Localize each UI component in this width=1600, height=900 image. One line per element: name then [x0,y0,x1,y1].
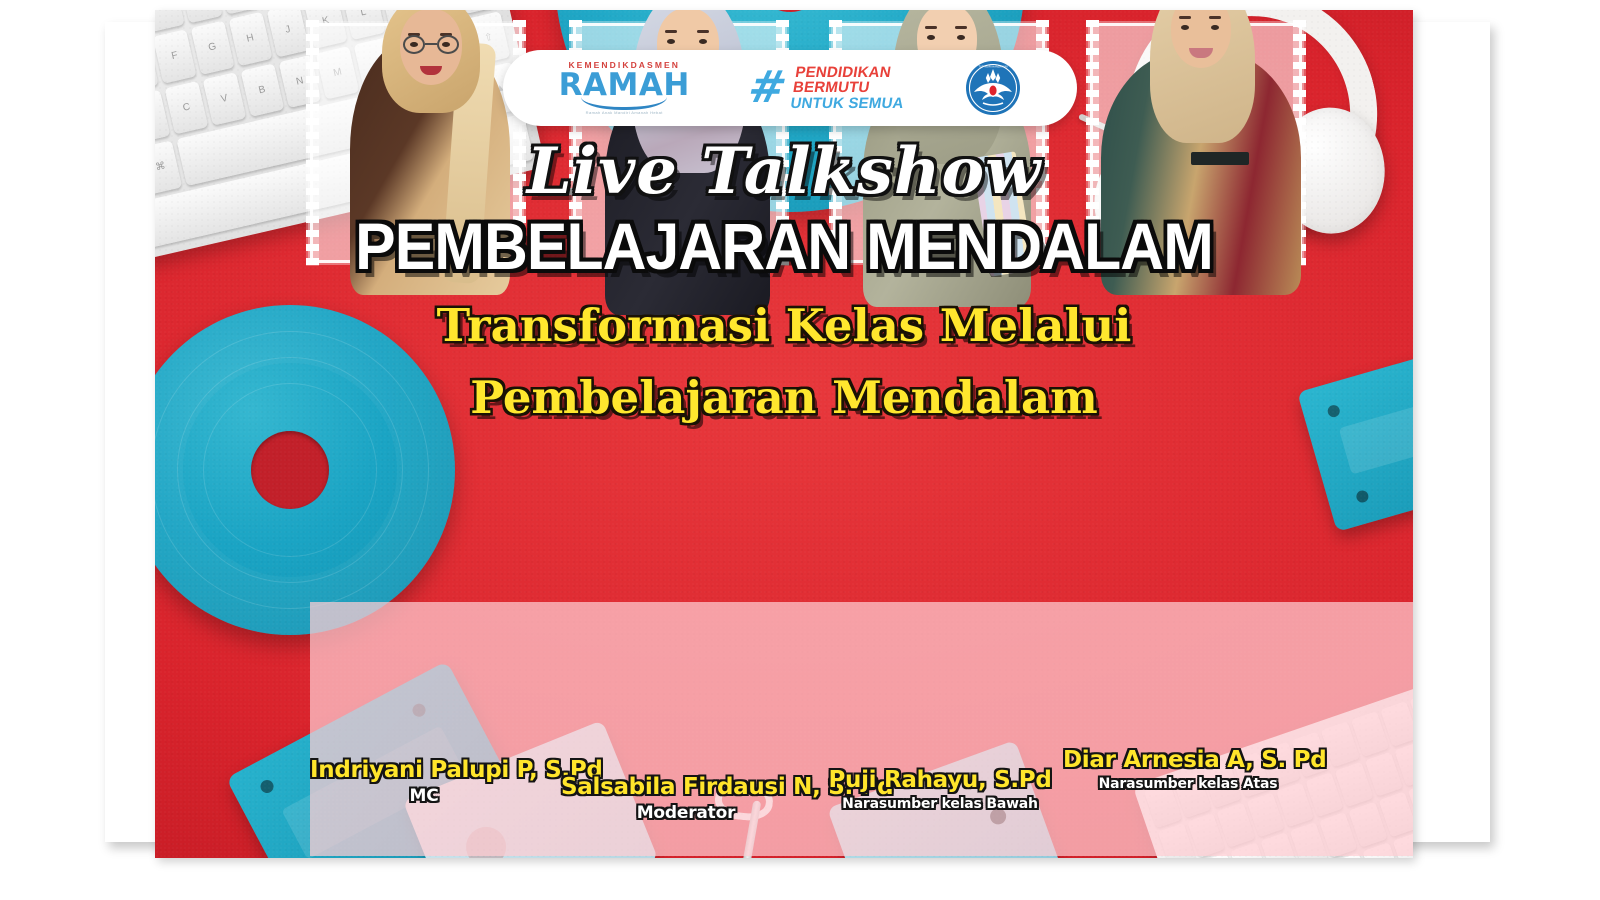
subtitle-line-2: Pembelajaran Mendalam [155,369,1413,427]
presenter-1-label: Indriyani Palupi P, S.Pd MC [310,758,538,806]
presenter-3-role: Narasumber kelas Bawah [825,796,1055,812]
presenter-4-label: Diar Arnesia A, S. Pd Narasumber kelas A… [1063,748,1313,792]
presenter-1-role: MC [310,786,538,806]
svg-text:TUT WURI HANDAYANI: TUT WURI HANDAYANI [979,65,1008,69]
poster-canvas: ~123 4567 890- QWER TYUI OP[] ASDF GHJK … [155,10,1413,858]
presenter-1-name: Indriyani Palupi P, S.Pd [310,758,538,783]
presenter-3-label: Puji Rahayu, S.Pd Narasumber kelas Bawah [825,768,1055,812]
tut-wuri-handayani-logo: TUT WURI HANDAYANI [965,60,1021,116]
eyebrow-live-talkshow: Live Talkshow [155,140,1413,204]
poster-page: ~123 4567 890- QWER TYUI OP[] ASDF GHJK … [0,0,1600,900]
ramah-logo-tagline: Ramah Anak Mandiri Amanah Hebat [586,111,663,115]
hashtag-icon: # [745,70,789,105]
pendidikan-bermutu-lines: PENDIDIKAN BERMUTU UNTUK SEMUA [789,65,909,111]
header-logo-bar: KEMENDIKDASMEN RAMAH Ramah Anak Mandiri … [503,50,1077,126]
ramah-logo-swoosh-icon [581,97,667,110]
presenter-2-role: Moderator [561,803,811,823]
title-block: Live Talkshow PEMBELAJARAN MENDALAM Tran… [155,140,1413,426]
pendidikan-bermutu-line1: PENDIDIKAN [794,65,909,80]
pendidikan-bermutu-logo: # PENDIDIKAN BERMUTU UNTUK SEMUA [749,65,906,111]
presenter-4-role: Narasumber kelas Atas [1063,776,1313,792]
ramah-logo: KEMENDIKDASMEN RAMAH Ramah Anak Mandiri … [559,61,690,116]
presenter-3-name: Puji Rahayu, S.Pd [825,768,1055,793]
portrait-1-glasses-icon-2 [437,35,459,54]
pendidikan-bermutu-line2: BERMUTU [792,80,907,95]
presenter-4-name: Diar Arnesia A, S. Pd [1063,748,1313,773]
subtitle-line-1: Transformasi Kelas Melalui [155,297,1413,355]
tut-wuri-emblem-icon: TUT WURI HANDAYANI [965,60,1021,116]
portrait-1-glasses-icon [403,35,425,54]
pendidikan-bermutu-line3: UNTUK SEMUA [789,96,904,111]
page-title: PEMBELAJARAN MENDALAM [205,212,1362,281]
presenter-2-label: Salsabila Firdausi N, S. Pd Moderator [561,775,811,823]
presenter-2-name: Salsabila Firdausi N, S. Pd [561,775,811,800]
